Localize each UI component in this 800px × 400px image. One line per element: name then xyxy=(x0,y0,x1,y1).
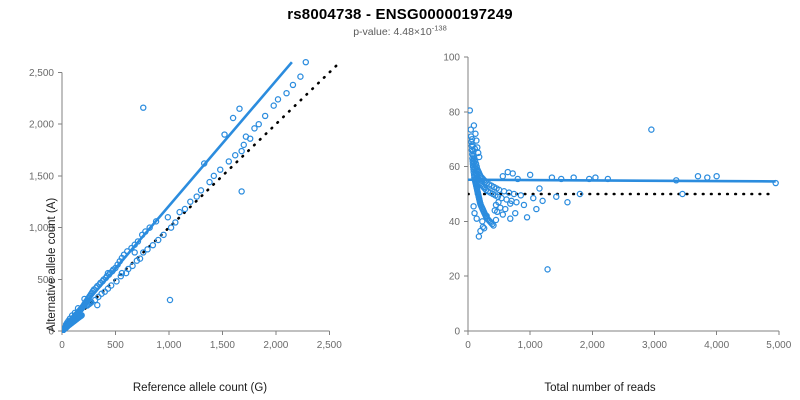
data-point xyxy=(500,212,505,217)
data-point xyxy=(218,167,223,172)
data-point xyxy=(473,131,478,136)
data-point xyxy=(95,303,100,308)
data-point xyxy=(132,250,137,255)
data-point xyxy=(480,219,485,224)
data-point xyxy=(649,127,654,132)
data-point xyxy=(471,204,476,209)
data-point xyxy=(537,186,542,191)
data-point xyxy=(474,216,479,221)
fit-line xyxy=(468,180,776,182)
x-tick-label: 4,000 xyxy=(704,340,729,351)
data-point xyxy=(207,180,212,185)
y-tick-label: 2,000 xyxy=(29,120,54,131)
data-point xyxy=(165,215,170,220)
scatter-plot-allele-counts: 05001,0001,5002,0002,50005001,0001,5002,… xyxy=(0,40,400,400)
panel-allele-counts: 05001,0001,5002,0002,50005001,0001,5002,… xyxy=(0,40,400,400)
x-tick-label: 0 xyxy=(465,340,471,351)
scatter-plot-percentage: 02040608010001,0002,0003,0004,0005,000 xyxy=(400,40,800,400)
fit-line xyxy=(62,62,292,331)
data-point xyxy=(167,297,172,302)
data-point xyxy=(528,172,533,177)
panel-percentage-alternative: 02040608010001,0002,0003,0004,0005,000 T… xyxy=(400,40,800,400)
x-tick-label: 3,000 xyxy=(642,340,667,351)
data-point xyxy=(150,243,155,248)
data-point xyxy=(230,115,235,120)
data-point xyxy=(252,126,257,131)
reference-line xyxy=(62,62,340,331)
data-layer xyxy=(467,108,778,272)
data-point xyxy=(524,215,529,220)
x-axis-label-left: Reference allele count (G) xyxy=(0,382,400,394)
data-point xyxy=(211,173,216,178)
data-point xyxy=(680,191,685,196)
x-tick-label: 0 xyxy=(59,340,65,351)
data-point xyxy=(705,175,710,180)
data-point xyxy=(145,247,150,252)
data-point xyxy=(194,194,199,199)
page-title: rs8004738 - ENSG00000197249 xyxy=(0,6,800,23)
x-tick-label: 500 xyxy=(107,340,124,351)
data-point xyxy=(493,217,498,222)
x-tick-label: 1,000 xyxy=(518,340,543,351)
y-tick-label: 1,500 xyxy=(29,171,54,182)
data-point xyxy=(513,211,518,216)
pvalue-subtitle: p-value: 4.48×10-138 xyxy=(0,26,800,38)
data-point xyxy=(503,206,508,211)
data-point xyxy=(508,216,513,221)
x-tick-label: 5,000 xyxy=(766,340,791,351)
data-point xyxy=(198,188,203,193)
data-point xyxy=(545,267,550,272)
data-point xyxy=(275,97,280,102)
data-point xyxy=(226,159,231,164)
y-tick-label: 20 xyxy=(449,272,461,283)
data-point xyxy=(531,196,536,201)
data-point xyxy=(714,174,719,179)
data-point xyxy=(168,225,173,230)
y-tick-label: 100 xyxy=(443,53,460,64)
data-point xyxy=(695,174,700,179)
data-point xyxy=(182,206,187,211)
figure-container: rs8004738 - ENSG00000197249 p-value: 4.4… xyxy=(0,0,800,400)
data-point xyxy=(271,103,276,108)
data-point xyxy=(514,200,519,205)
y-axis-label-left: Alternative allele count (A) xyxy=(46,198,58,332)
data-point xyxy=(188,199,193,204)
data-point xyxy=(233,153,238,158)
x-tick-label: 1,000 xyxy=(156,340,181,351)
data-point xyxy=(500,174,505,179)
data-point xyxy=(239,148,244,153)
data-point xyxy=(521,202,526,207)
data-point xyxy=(222,132,227,137)
data-point xyxy=(540,198,545,203)
x-tick-label: 2,000 xyxy=(580,340,605,351)
data-point xyxy=(471,123,476,128)
data-point xyxy=(534,206,539,211)
pvalue-exponent: -138 xyxy=(432,24,447,33)
y-tick-label: 40 xyxy=(449,217,461,228)
x-tick-label: 1,500 xyxy=(210,340,235,351)
data-point xyxy=(141,105,146,110)
x-tick-label: 2,000 xyxy=(263,340,288,351)
data-point xyxy=(565,200,570,205)
data-point xyxy=(478,228,483,233)
data-point xyxy=(518,193,523,198)
y-tick-label: 60 xyxy=(449,162,461,173)
y-tick-label: 2,500 xyxy=(29,68,54,79)
data-point xyxy=(510,171,515,176)
pvalue-text: p-value: 4.48×10 xyxy=(353,26,432,38)
x-axis-label-right: Total number of reads xyxy=(400,382,800,394)
data-point xyxy=(256,122,261,127)
y-tick-label: 80 xyxy=(449,107,461,118)
data-layer xyxy=(60,60,340,333)
data-point xyxy=(290,82,295,87)
data-point xyxy=(298,74,303,79)
data-point xyxy=(303,60,308,65)
data-point xyxy=(472,211,477,216)
data-point xyxy=(476,234,481,239)
data-point xyxy=(177,209,182,214)
data-point xyxy=(284,91,289,96)
x-tick-label: 2,500 xyxy=(317,340,342,351)
data-point xyxy=(239,189,244,194)
y-tick-label: 0 xyxy=(454,327,460,338)
data-point xyxy=(237,106,242,111)
data-point xyxy=(263,113,268,118)
data-point xyxy=(241,142,246,147)
